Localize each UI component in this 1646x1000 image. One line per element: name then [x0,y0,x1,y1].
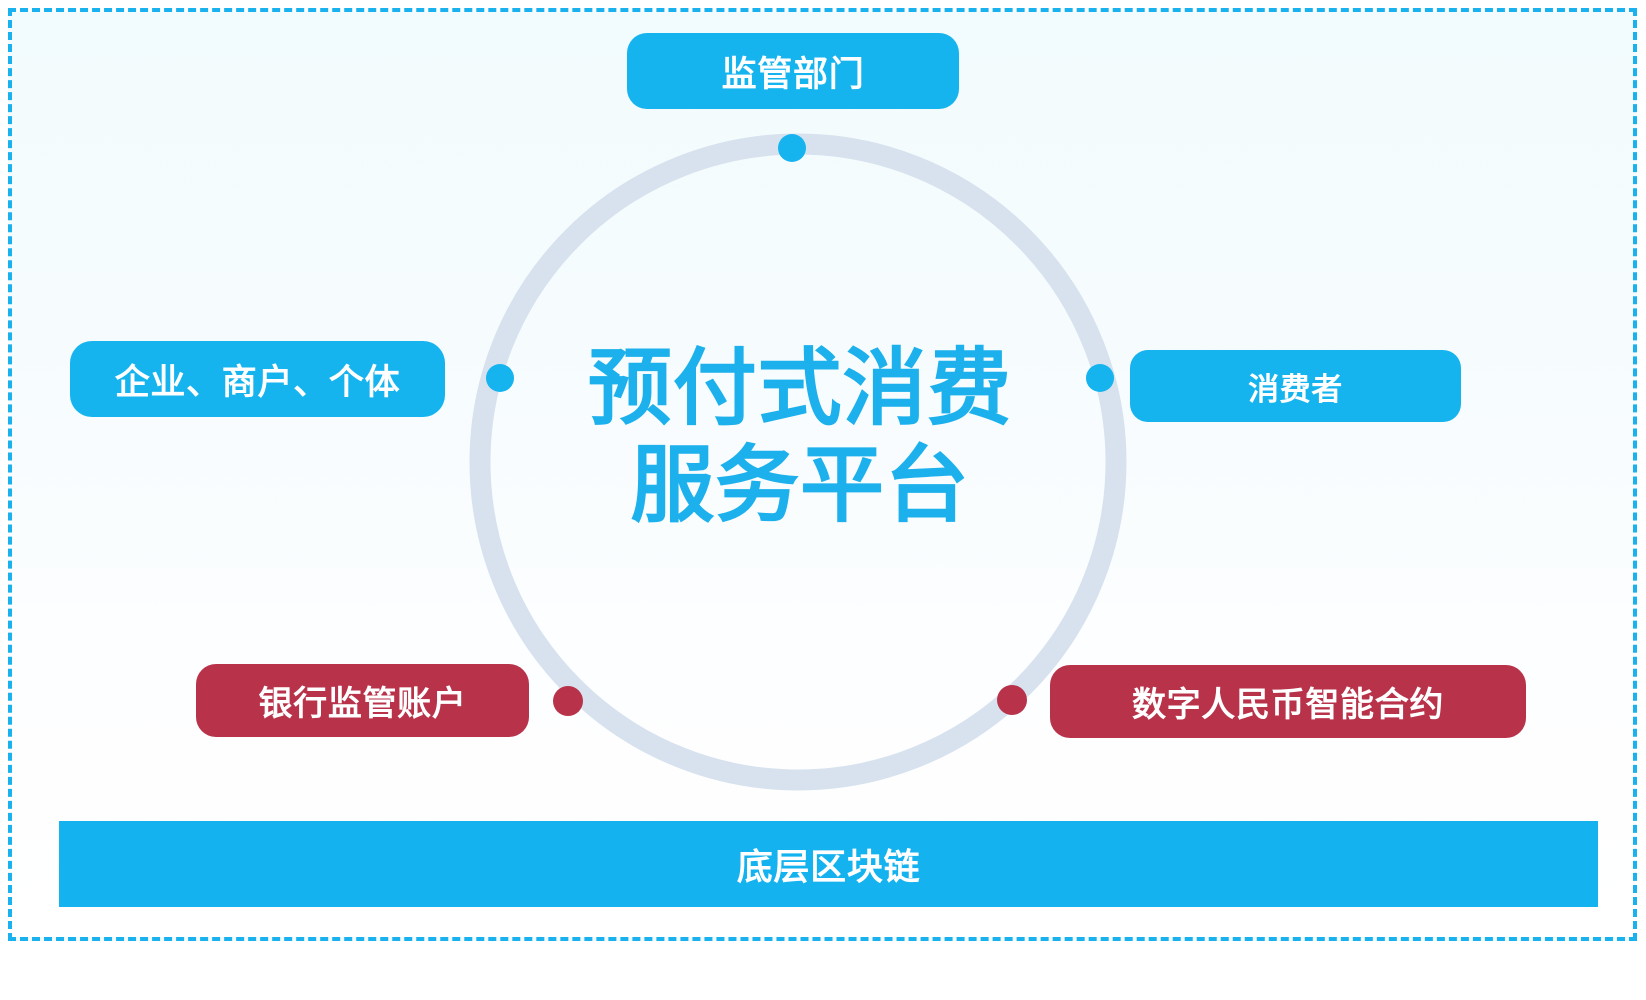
node-bank-account[interactable]: 银行监管账户 [196,664,529,737]
center-label-line-1: 预付式消费 [520,340,1080,437]
diagram-canvas: 预付式消费 服务平台 监管部门 企业、商户、个体 消费者 银行监管账户 数字人民… [0,0,1646,1000]
node-smart-contract[interactable]: 数字人民币智能合约 [1050,665,1526,738]
node-underlying-blockchain[interactable]: 底层区块链 [59,821,1598,907]
node-regulator[interactable]: 监管部门 [627,33,959,109]
center-label-line-2: 服务平台 [520,437,1080,534]
node-enterprise[interactable]: 企业、商户、个体 [70,341,445,417]
center-platform-label: 预付式消费 服务平台 [520,340,1080,535]
node-consumer[interactable]: 消费者 [1130,350,1461,422]
